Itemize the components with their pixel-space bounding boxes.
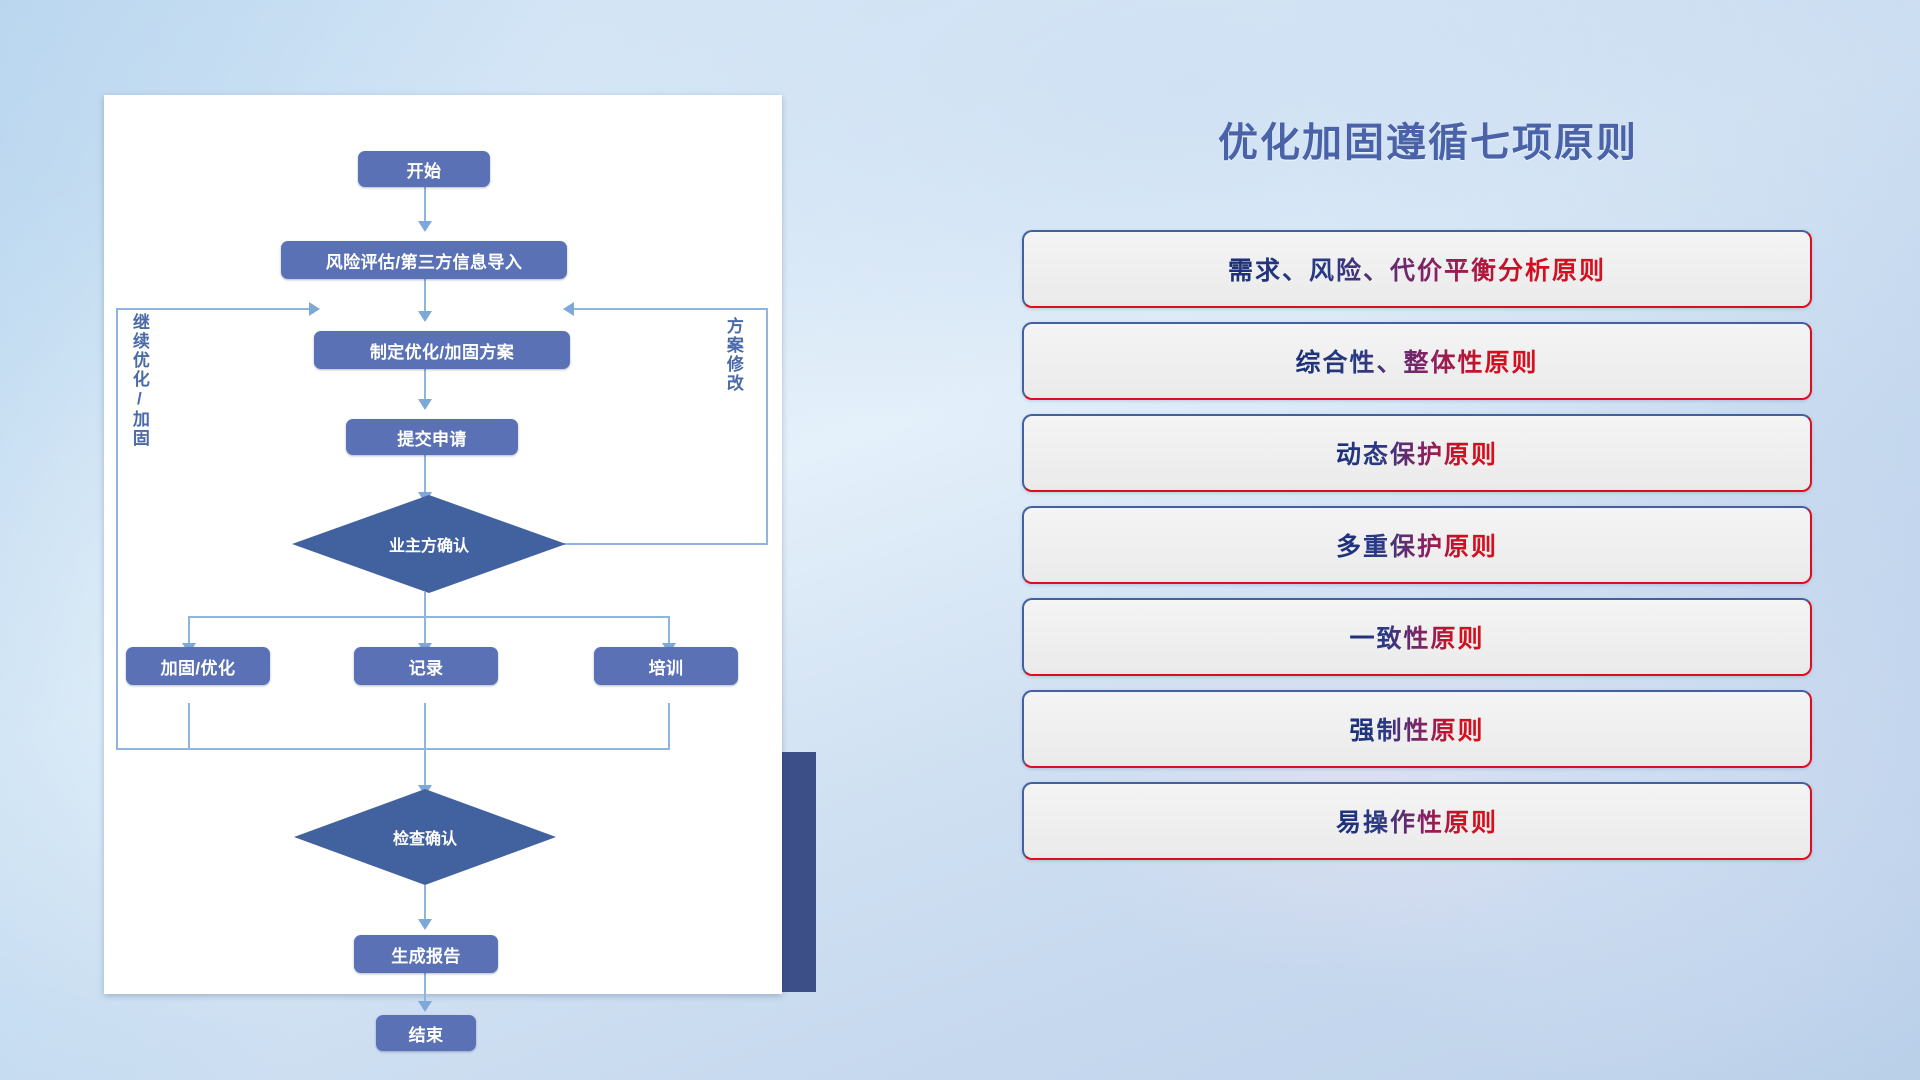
principle-card[interactable]: 一致性原则 bbox=[1022, 598, 1812, 676]
principle-card[interactable]: 需求、风险、代价平衡分析原则 bbox=[1022, 230, 1812, 308]
flow-decision-owner-confirm[interactable]: 业主方确认 bbox=[292, 495, 566, 593]
principle-card[interactable]: 多重保护原则 bbox=[1022, 506, 1812, 584]
flow-side-label-left: 继续优化/加固 bbox=[130, 313, 148, 503]
loop-right-vertical bbox=[766, 308, 768, 545]
conn-record-check bbox=[424, 703, 426, 789]
principle-card-label: 综合性、整体性原则 bbox=[1295, 343, 1538, 379]
principle-card-label: 强制性原则 bbox=[1349, 711, 1484, 747]
conn-start-risk-arrow bbox=[418, 221, 432, 232]
principle-card-label: 需求、风险、代价平衡分析原则 bbox=[1228, 251, 1606, 287]
flow-node-risk-assessment[interactable]: 风险评估/第三方信息导入 bbox=[281, 241, 567, 279]
merge-bus-bottom bbox=[188, 748, 670, 750]
loop-left-horizontal-top bbox=[116, 308, 314, 310]
branch-right-drop bbox=[668, 616, 670, 646]
flow-node-harden[interactable]: 加固/优化 bbox=[126, 647, 270, 685]
branch-bus-top bbox=[188, 616, 670, 618]
conn-risk-plan bbox=[424, 273, 426, 315]
principle-card[interactable]: 动态保护原则 bbox=[1022, 414, 1812, 492]
conn-report-end-arrow bbox=[418, 1001, 432, 1012]
flow-side-label-right: 方案修改 bbox=[724, 317, 742, 437]
loop-right-arrow bbox=[563, 302, 574, 316]
conn-start-risk bbox=[424, 183, 426, 225]
flow-node-training[interactable]: 培训 bbox=[594, 647, 738, 685]
conn-owner-down bbox=[424, 592, 426, 649]
flow-node-record[interactable]: 记录 bbox=[354, 647, 498, 685]
flow-decision-check-confirm-label: 检查确认 bbox=[294, 789, 556, 885]
principle-card-label: 易操作性原则 bbox=[1336, 803, 1498, 839]
merge-right-rise bbox=[668, 703, 670, 750]
principle-card[interactable]: 易操作性原则 bbox=[1022, 782, 1812, 860]
branch-left-drop bbox=[188, 616, 190, 646]
principle-card[interactable]: 强制性原则 bbox=[1022, 690, 1812, 768]
loop-left-arrow bbox=[309, 302, 320, 316]
flow-node-plan[interactable]: 制定优化/加固方案 bbox=[314, 331, 570, 369]
flow-node-generate-report[interactable]: 生成报告 bbox=[354, 935, 498, 973]
page-title: 优化加固遵循七项原则 bbox=[1148, 110, 1708, 168]
flowchart-canvas: 继续优化/加固 方案修改 bbox=[104, 95, 782, 994]
flow-node-start[interactable]: 开始 bbox=[358, 151, 490, 187]
flow-node-end[interactable]: 结束 bbox=[376, 1015, 476, 1051]
principle-card[interactable]: 综合性、整体性原则 bbox=[1022, 322, 1812, 400]
conn-check-report-arrow bbox=[418, 919, 432, 930]
conn-plan-submit bbox=[424, 363, 426, 403]
principles-list: 需求、风险、代价平衡分析原则 综合性、整体性原则 动态保护原则 多重保护原则 一… bbox=[1022, 230, 1812, 874]
flow-decision-check-confirm[interactable]: 检查确认 bbox=[294, 789, 556, 885]
principle-card-label: 多重保护原则 bbox=[1336, 527, 1498, 563]
flow-node-submit[interactable]: 提交申请 bbox=[346, 419, 518, 455]
flowchart-card: 继续优化/加固 方案修改 bbox=[104, 95, 782, 994]
flow-decision-owner-confirm-label: 业主方确认 bbox=[292, 495, 566, 593]
principle-card-label: 动态保护原则 bbox=[1336, 435, 1498, 471]
loop-left-vertical bbox=[116, 308, 118, 750]
principle-card-label: 一致性原则 bbox=[1349, 619, 1484, 655]
conn-risk-plan-arrow bbox=[418, 311, 432, 322]
conn-submit-owner bbox=[424, 451, 426, 495]
conn-plan-submit-arrow bbox=[418, 399, 432, 410]
loop-right-horizontal-top bbox=[570, 308, 768, 310]
conn-check-report bbox=[424, 885, 426, 923]
merge-left-rise bbox=[188, 703, 190, 750]
